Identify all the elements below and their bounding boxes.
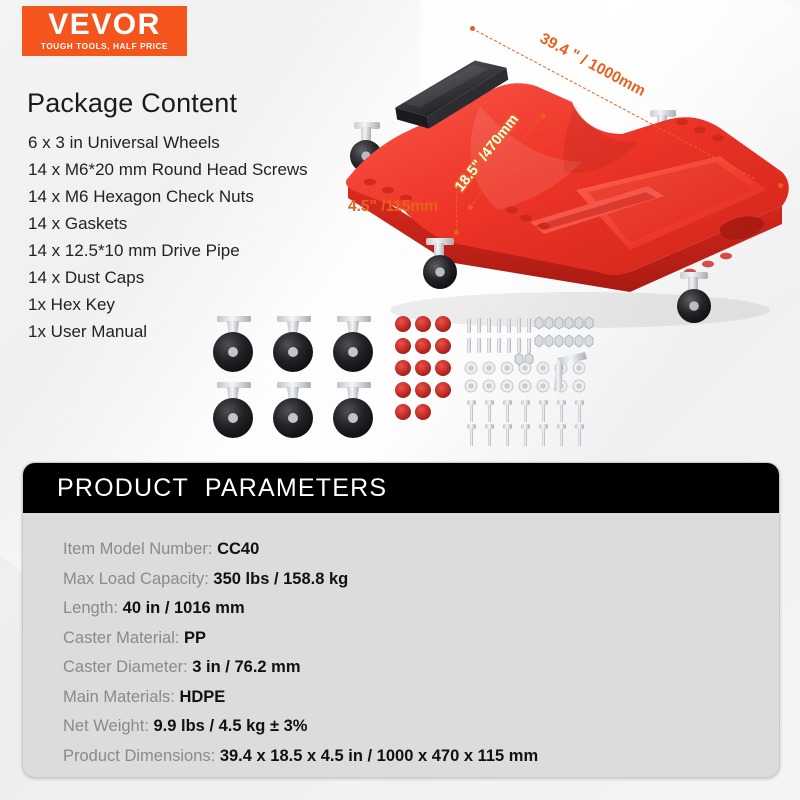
list-item: 14 x M6*20 mm Round Head Screws	[28, 156, 368, 183]
accessories-illustration	[205, 312, 595, 447]
param-label: Caster Material:	[63, 629, 179, 647]
length-dim-dot-start	[470, 26, 475, 31]
width-dim-dot-start	[468, 205, 473, 210]
param-value: PP	[184, 629, 206, 647]
param-label: Item Model Number:	[63, 540, 212, 558]
package-content-title: Package Content	[27, 88, 237, 119]
param-value: 9.9 lbs / 4.5 kg ± 3%	[154, 717, 308, 735]
param-label: Net Weight:	[63, 717, 149, 735]
param-value: 40 in / 1016 mm	[123, 599, 245, 617]
param-row: Caster Diameter: 3 in / 76.2 mm	[63, 653, 779, 683]
screw-set	[467, 400, 584, 446]
product-parameters-panel: PRODUCT PARAMETERS Item Model Number: CC…	[22, 462, 780, 778]
accessories-group	[205, 312, 595, 447]
param-row: Net Weight: 9.9 lbs / 4.5 kg ± 3%	[63, 712, 779, 742]
param-row: Caster Material: PP	[63, 624, 779, 654]
height-dim-dot-bottom	[454, 230, 459, 235]
panel-header: PRODUCT PARAMETERS	[23, 463, 779, 513]
param-label: Main Materials:	[63, 688, 175, 706]
param-value: 3 in / 76.2 mm	[192, 658, 300, 676]
param-label: Length:	[63, 599, 118, 617]
vevor-logo: VEVOR TOUGH TOOLS, HALF PRICE	[22, 6, 187, 56]
list-item: 6 x 3 in Universal Wheels	[28, 129, 368, 156]
brand-name: VEVOR	[48, 10, 161, 40]
param-value: HDPE	[179, 688, 225, 706]
param-row: Item Model Number: CC40	[63, 535, 779, 565]
param-row: Length: 40 in / 1016 mm	[63, 594, 779, 624]
infographic-page: VEVOR TOUGH TOOLS, HALF PRICE Package Co…	[0, 0, 800, 800]
param-label: Max Load Capacity:	[63, 570, 209, 588]
param-row: Product Dimensions: 39.4 x 18.5 x 4.5 in…	[63, 742, 779, 772]
gasket-set	[465, 362, 585, 392]
list-item: 14 x Gaskets	[28, 210, 368, 237]
panel-title: PRODUCT PARAMETERS	[57, 474, 387, 503]
caster-front-right	[677, 272, 711, 323]
brand-tagline: TOUGH TOOLS, HALF PRICE	[41, 41, 168, 52]
param-label: Product Dimensions:	[63, 747, 215, 765]
height-dimension-label: 4.5" /115mm	[348, 198, 438, 216]
list-item: 14 x 12.5*10 mm Drive Pipe	[28, 237, 368, 264]
caster-set	[213, 316, 373, 438]
dust-cap-set	[395, 316, 451, 420]
param-value: 350 lbs / 158.8 kg	[213, 570, 348, 588]
param-row: Main Materials: HDPE	[63, 683, 779, 713]
param-label: Caster Diameter:	[63, 658, 188, 676]
list-item: 14 x Dust Caps	[28, 264, 368, 291]
height-dimension-line	[456, 186, 457, 232]
drive-pipe-set	[467, 318, 531, 353]
panel-body: Item Model Number: CC40 Max Load Capacit…	[23, 513, 779, 771]
length-dim-dot-end	[778, 183, 783, 188]
width-dim-dot-end	[541, 114, 546, 119]
param-row: Max Load Capacity: 350 lbs / 158.8 kg	[63, 565, 779, 595]
param-value: CC40	[217, 540, 259, 558]
param-value: 39.4 x 18.5 x 4.5 in / 1000 x 470 x 115 …	[220, 747, 538, 765]
list-item: 14 x M6 Hexagon Check Nuts	[28, 183, 368, 210]
